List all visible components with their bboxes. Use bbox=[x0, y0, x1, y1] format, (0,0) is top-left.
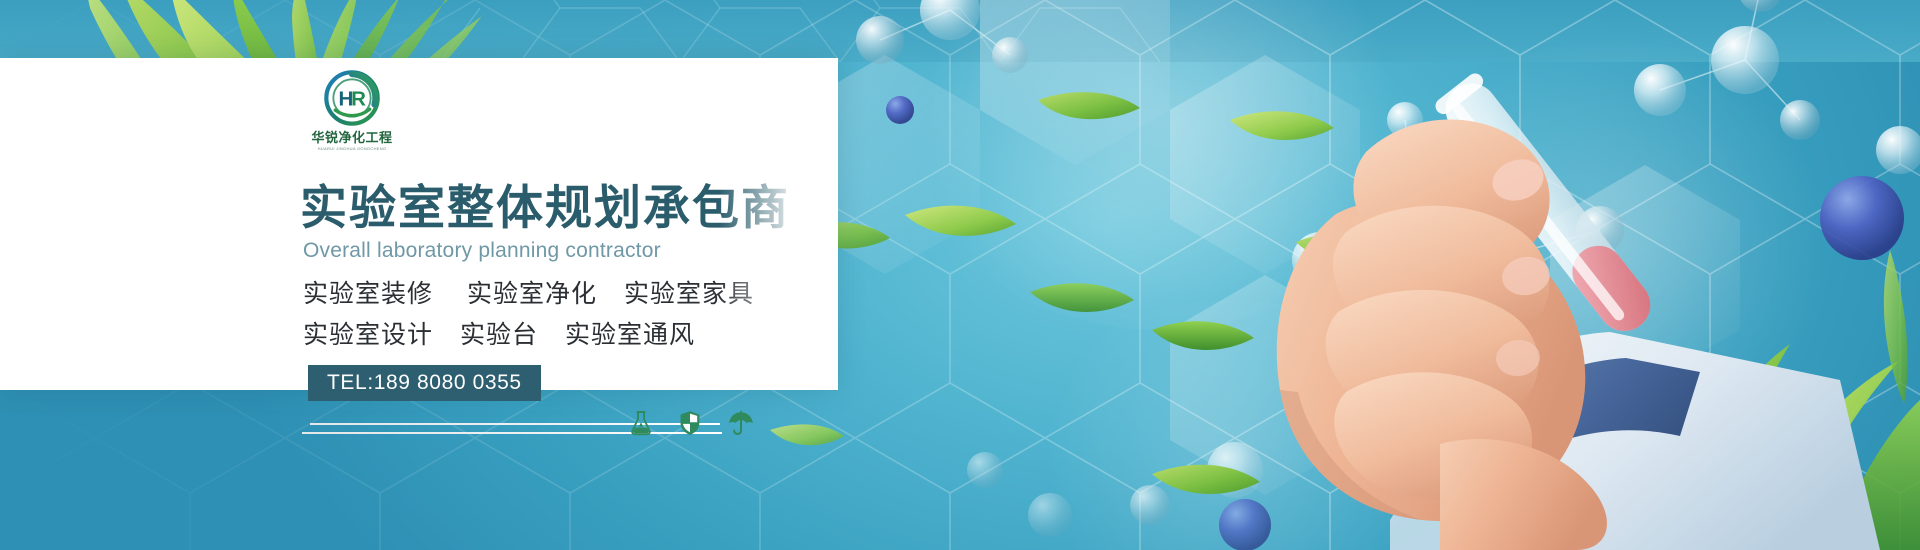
service-list: 实验室装修 实验室净化 实验室家具 实验室设计 实验台 实验室通风 bbox=[303, 274, 754, 356]
shield-icon[interactable] bbox=[679, 410, 701, 436]
logo-company-name-cn: 华锐净化工程 bbox=[302, 127, 402, 146]
laboratory-hero-banner: H R 华锐净化工程 HUARUI JINGHUA GONGCHENG 实验室整… bbox=[0, 0, 1920, 550]
telephone-button[interactable]: TEL:189 8080 0355 bbox=[308, 365, 541, 401]
service-row-2: 实验室设计 实验台 实验室通风 bbox=[303, 315, 754, 356]
service-row-1: 实验室装修 实验室净化 实验室家具 bbox=[303, 274, 754, 315]
page-title: 实验室整体规划承包商 bbox=[300, 184, 790, 231]
page-subtitle: Overall laboratory planning contractor bbox=[303, 239, 661, 263]
content-panel: H R 华锐净化工程 HUARUI JINGHUA GONGCHENG 实验室整… bbox=[0, 58, 838, 390]
flask-icon[interactable] bbox=[630, 410, 652, 436]
umbrella-icon[interactable] bbox=[728, 410, 754, 436]
service-item-lab-renovation[interactable]: 实验室装修 bbox=[303, 274, 433, 315]
service-item-lab-ventilation[interactable]: 实验室通风 bbox=[565, 315, 695, 356]
svg-text:R: R bbox=[351, 87, 366, 110]
service-item-lab-furniture[interactable]: 实验室家具 bbox=[624, 274, 754, 315]
service-item-lab-purification[interactable]: 实验室净化 bbox=[467, 274, 597, 315]
huarui-logo-icon: H R bbox=[324, 70, 380, 126]
brand-logo[interactable]: H R 华锐净化工程 HUARUI JINGHUA GONGCHENG bbox=[302, 70, 402, 151]
logo-company-pinyin: HUARUI JINGHUA GONGCHENG bbox=[302, 146, 402, 151]
telephone-label: TEL:189 8080 0355 bbox=[327, 371, 522, 395]
service-item-lab-design[interactable]: 实验室设计 bbox=[303, 315, 433, 356]
feature-icon-row bbox=[630, 410, 754, 436]
service-item-lab-bench[interactable]: 实验台 bbox=[460, 315, 538, 356]
